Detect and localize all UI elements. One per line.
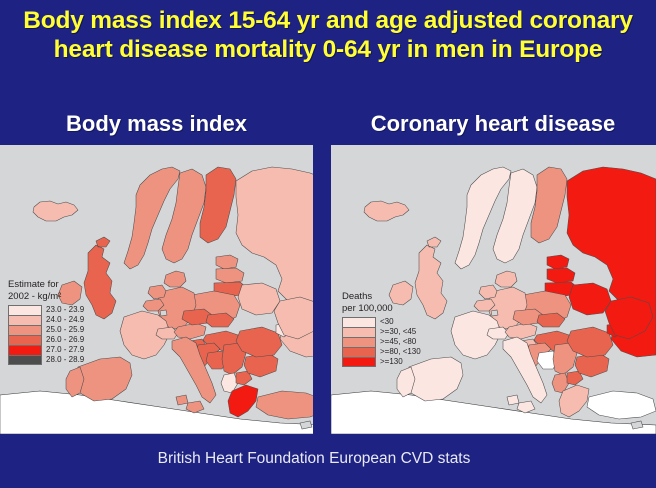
- legend-items-chd: <30>=30, <45>=45, <80>=80, <130>=130: [342, 317, 421, 367]
- source-caption-text: British Heart Foundation European CVD st…: [158, 450, 499, 467]
- legend-swatch: [342, 327, 376, 337]
- legend-row: <30: [342, 317, 421, 327]
- legend-swatch: [8, 335, 42, 345]
- legend-row: 28.0 - 28.9: [8, 355, 84, 365]
- legend-row: 26.0 - 26.9: [8, 335, 84, 345]
- country-belarus: [569, 283, 611, 315]
- legend-row: 24.0 - 24.9: [8, 315, 84, 325]
- page-title: Body mass index 15-64 yr and age adjuste…: [0, 6, 656, 64]
- country-luxembourg: [160, 310, 167, 316]
- legend-swatch: [8, 355, 42, 365]
- legend-row: >=30, <45: [342, 327, 421, 337]
- legend-label: 26.0 - 26.9: [46, 335, 84, 345]
- legend-label: 27.0 - 27.9: [46, 345, 84, 355]
- legend-swatch: [342, 347, 376, 357]
- legend-row: 27.0 - 27.9: [8, 345, 84, 355]
- country-latvia: [547, 268, 575, 283]
- map-panel-chd: [331, 145, 656, 434]
- legend-swatch: [8, 315, 42, 325]
- country-luxembourg: [491, 310, 498, 316]
- legend-row: 23.0 - 23.9: [8, 305, 84, 315]
- legend-swatch: [8, 325, 42, 335]
- country-estonia: [547, 255, 569, 269]
- legend-row: >=80, <130: [342, 347, 421, 357]
- legend-swatch: [342, 337, 376, 347]
- legend-label: <30: [380, 317, 394, 327]
- legend-chd: Deaths per 100,000 <30>=30, <45>=45, <80…: [342, 291, 421, 367]
- legend-swatch: [342, 357, 376, 367]
- legend-row: >=130: [342, 357, 421, 367]
- legend-label: >=80, <130: [380, 347, 421, 357]
- legend-row: 25.0 - 25.9: [8, 325, 84, 335]
- legend-label: 24.0 - 24.9: [46, 315, 84, 325]
- legend-row: >=45, <80: [342, 337, 421, 347]
- slide: Body mass index 15-64 yr and age adjuste…: [0, 0, 656, 488]
- legend-label: >=45, <80: [380, 337, 416, 347]
- legend-title-bmi: Estimate for 2002 - kg/m²: [8, 279, 84, 302]
- country-latvia: [216, 268, 244, 283]
- legend-items-bmi: 23.0 - 23.924.0 - 24.925.0 - 25.926.0 - …: [8, 305, 84, 365]
- legend-label: 28.0 - 28.9: [46, 355, 84, 365]
- legend-label: 25.0 - 25.9: [46, 325, 84, 335]
- legend-bmi: Estimate for 2002 - kg/m² 23.0 - 23.924.…: [8, 279, 84, 365]
- legend-label: >=30, <45: [380, 327, 416, 337]
- panel-heading-chd: Coronary heart disease: [330, 111, 656, 137]
- europe-map-chd: [331, 145, 656, 434]
- legend-title-chd: Deaths per 100,000: [342, 291, 421, 314]
- legend-label: >=130: [380, 357, 403, 367]
- legend-swatch: [8, 345, 42, 355]
- legend-swatch: [8, 305, 42, 315]
- panel-heading-bmi: Body mass index: [0, 111, 313, 137]
- country-belarus: [238, 283, 280, 315]
- country-estonia: [216, 255, 238, 269]
- source-caption: British Heart Foundation European CVD st…: [0, 450, 656, 468]
- legend-label: 23.0 - 23.9: [46, 305, 84, 315]
- legend-swatch: [342, 317, 376, 327]
